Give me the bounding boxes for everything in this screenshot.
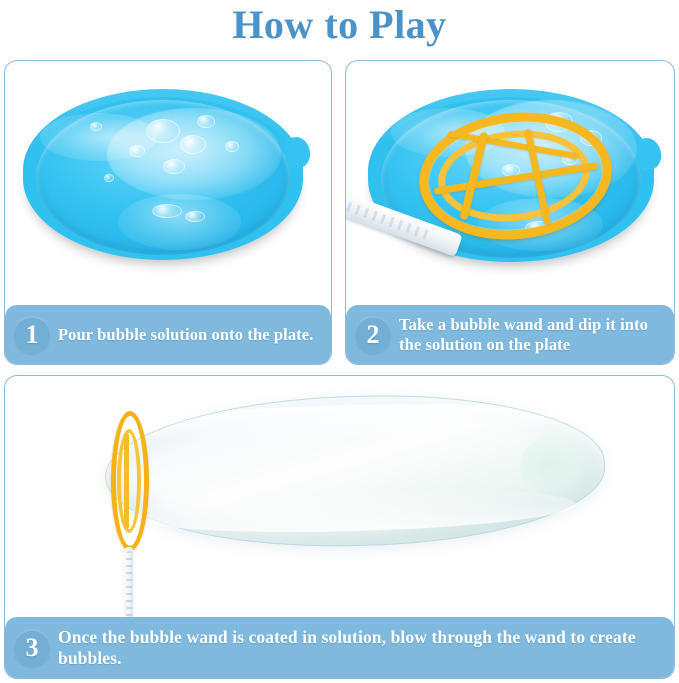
step-1-photo <box>5 61 331 305</box>
wand-spoke <box>124 433 129 529</box>
bubble-dot <box>129 145 145 157</box>
step-caption-text: Pour bubble solution onto the plate. <box>58 325 313 345</box>
step-number-badge: 3 <box>13 629 51 667</box>
bubble-dot <box>197 115 215 128</box>
step-number-badge: 1 <box>13 316 51 354</box>
step-2-photo <box>346 61 674 305</box>
step-card-1: 1 Pour bubble solution onto the plate. <box>4 60 332 365</box>
wand-handle <box>125 547 133 617</box>
step-3-photo <box>5 376 674 617</box>
plate-pour-lip <box>633 136 663 171</box>
wand-inner-ring <box>117 429 141 533</box>
bubble-dot <box>152 204 182 218</box>
bubble-dot <box>225 141 239 152</box>
step-card-2: 2 Take a bubble wand and dip it into the… <box>345 60 675 365</box>
how-to-play-infographic: How to Play <box>0 0 679 683</box>
large-bubble-illustration <box>103 389 607 552</box>
step-1-caption: 1 Pour bubble solution onto the plate. <box>5 305 331 364</box>
step-number-badge: 2 <box>354 316 392 354</box>
step-caption-text: Once the bubble wand is coated in soluti… <box>58 627 668 669</box>
step-card-3: 3 Once the bubble wand is coated in solu… <box>4 375 675 679</box>
step-3-caption: 3 Once the bubble wand is coated in solu… <box>5 617 674 678</box>
step-caption-text: Take a bubble wand and dip it into the s… <box>399 315 668 354</box>
page-title: How to Play <box>0 2 679 48</box>
step-2-caption: 2 Take a bubble wand and dip it into the… <box>346 305 674 364</box>
bubble-wand-illustration <box>401 99 631 279</box>
bubble-dot <box>146 119 180 143</box>
bubble-dot <box>180 135 206 154</box>
bubble-plate-illustration <box>23 89 303 274</box>
bubble-wand-illustration <box>105 411 155 617</box>
